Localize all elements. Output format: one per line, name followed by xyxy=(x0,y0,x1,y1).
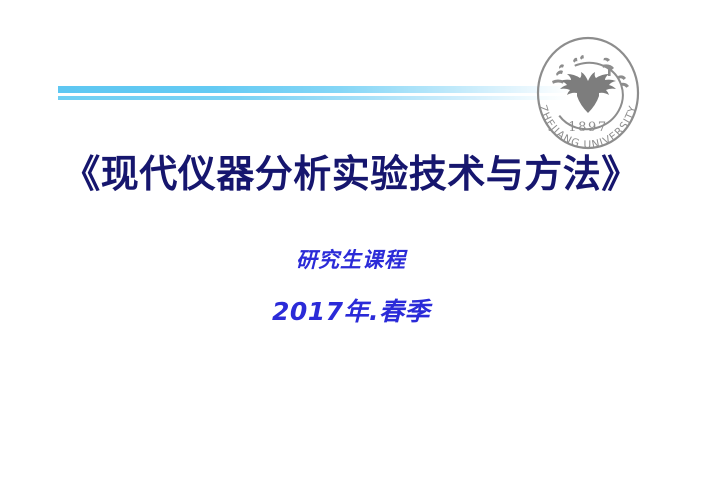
logo-eagle-emblem xyxy=(560,72,616,113)
subtitle-term: 2017年.春季 xyxy=(0,292,702,328)
gradient-rule-thick-band xyxy=(58,86,570,93)
page-title: 《现代仪器分析实验技术与方法》 xyxy=(0,152,702,198)
gradient-rule xyxy=(58,86,570,100)
logo-founded-year: 1897 xyxy=(568,120,607,135)
zhejiang-university-logo: 1897 ZHEJIANG UNIVERSITY xyxy=(526,36,650,150)
subtitle-course-level: 研究生课程 xyxy=(0,244,702,274)
gradient-rule-thin-band xyxy=(58,96,570,100)
presentation-slide: 1897 ZHEJIANG UNIVERSITY 《现代仪器分析实验技术与方法》… xyxy=(0,0,702,496)
